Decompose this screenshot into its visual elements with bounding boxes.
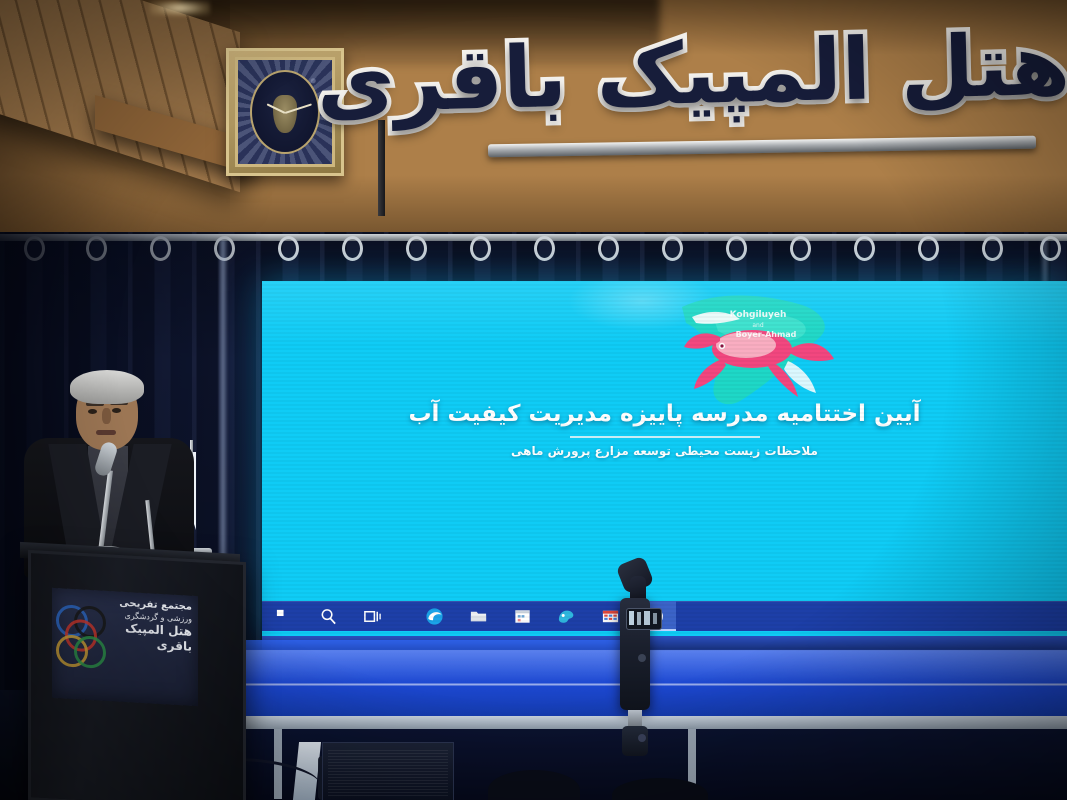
calendar-app-icon[interactable] — [500, 601, 544, 631]
presenter-mouth — [96, 430, 116, 435]
ceiling-light-glow — [150, 0, 210, 16]
gimbal-record-button[interactable] — [638, 654, 646, 662]
gimbal-body — [620, 598, 650, 710]
presentation-title: آیین اختتامیه مدرسه پاییزه مدیریت کیفیت … — [262, 401, 1067, 427]
fish-and-map-logo: Kohgiluyeh and Boyer-Ahmad — [670, 289, 850, 409]
title-divider — [570, 436, 760, 438]
task-view-icon[interactable] — [350, 601, 394, 631]
start-button-icon[interactable] — [262, 601, 306, 631]
search-icon[interactable] — [306, 601, 350, 631]
edge-browser-icon[interactable] — [412, 601, 456, 631]
svg-text:Boyer-Ahmad: Boyer-Ahmad — [736, 330, 797, 339]
screenshot-root: هتل المپیک باقری — [0, 0, 1067, 800]
presenter-nose — [102, 408, 111, 424]
presentation-subtitle: ملاحظات زیست محیطی توسعه مزارع پرورش ماه… — [262, 444, 1067, 458]
svg-text:Kohgiluyeh: Kohgiluyeh — [730, 310, 787, 320]
projection-screen[interactable]: Kohgiluyeh and Boyer-Ahmad آیین اختتامیه… — [262, 281, 1067, 638]
file-explorer-icon[interactable] — [456, 601, 500, 631]
lectern-plate-text: مجتمع تفریحی ورزشی و گردشگری هتل المپیک … — [100, 597, 192, 656]
gimbal-preview-screen[interactable] — [626, 608, 662, 630]
hotel-name-sign: هتل المپیک باقری — [378, 0, 1067, 149]
clock-dial — [250, 70, 320, 154]
tripod-head — [622, 726, 648, 756]
lectern-name-plate: مجتمع تفریحی ورزشی و گردشگری هتل المپیک … — [52, 588, 198, 706]
floor-loudspeaker — [322, 742, 454, 800]
paint-app-icon[interactable] — [544, 601, 588, 631]
windows-taskbar[interactable] — [262, 601, 1067, 631]
presenter-hair — [70, 370, 144, 404]
svg-text:and: and — [752, 322, 763, 329]
hotel-name-sign-text: هتل المپیک باقری — [316, 23, 1067, 126]
gimbal-camera[interactable] — [612, 560, 658, 740]
taskbar-separator — [394, 601, 412, 631]
